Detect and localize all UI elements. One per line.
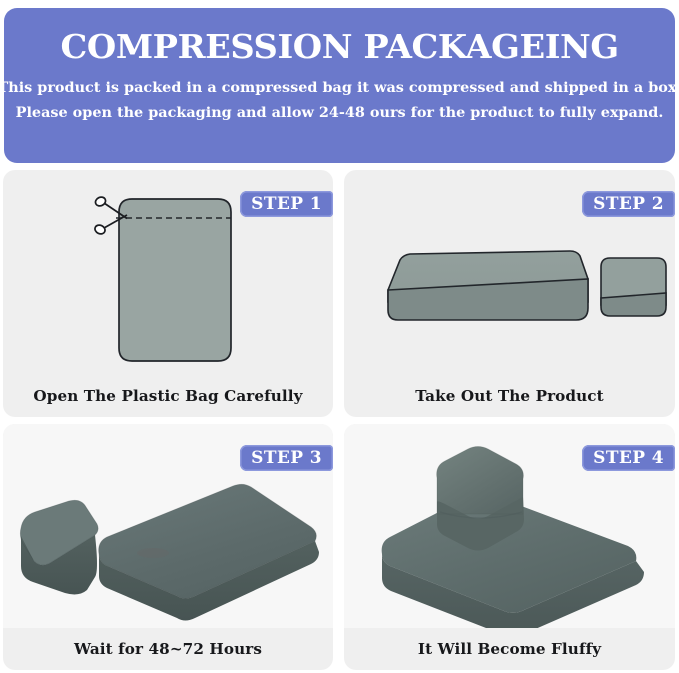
step-caption-4: It Will Become Fluffy	[344, 640, 675, 658]
step-panel-1: STEP 1 Open The Plastic Bag Carefully	[3, 170, 333, 417]
step-panel-3: STEP 3 Wait for 48~72 Hours	[3, 424, 333, 670]
banner-description-line-2: Please open the packaging and allow 24-4…	[16, 100, 664, 125]
step-badge-2: STEP 2	[582, 191, 675, 217]
page-title: COMPRESSION PACKAGEING	[60, 27, 618, 67]
step-panel-2: STEP 2 Take Out The Product	[344, 170, 675, 417]
step-badge-4: STEP 4	[582, 445, 675, 471]
step-panel-4: STEP 4 It Will Become Fluffy	[344, 424, 675, 670]
step-badge-3: STEP 3	[240, 445, 333, 471]
banner-description-line-1: This product is packed in a compressed b…	[0, 75, 679, 100]
step-caption-1: Open The Plastic Bag Carefully	[3, 387, 333, 405]
step-caption-2: Take Out The Product	[344, 387, 675, 405]
header-banner: COMPRESSION PACKAGEING This product is p…	[4, 8, 675, 163]
step-badge-1: STEP 1	[240, 191, 333, 217]
step-caption-3: Wait for 48~72 Hours	[3, 640, 333, 658]
